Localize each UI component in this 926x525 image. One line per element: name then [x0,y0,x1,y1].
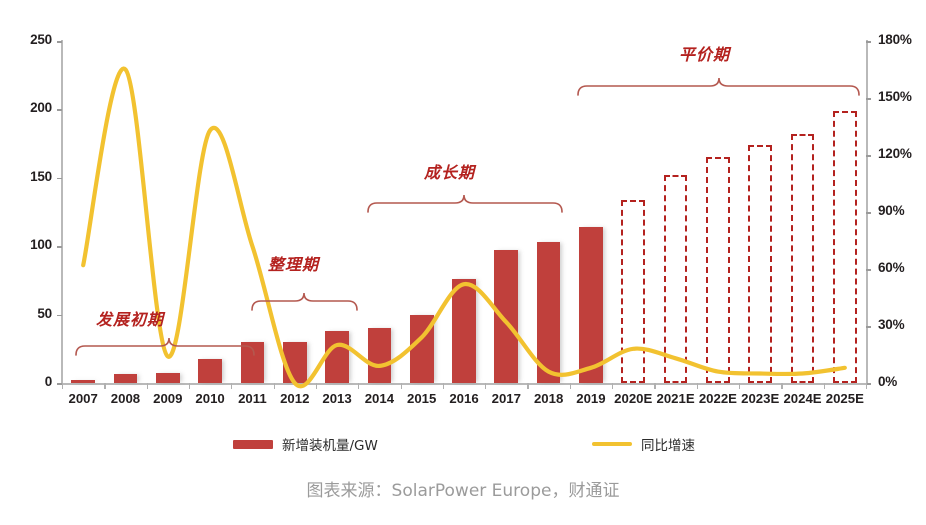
x-tick-label: 2015 [401,391,443,406]
x-tick [485,383,486,389]
bar-actual [198,359,222,383]
x-tick-label: 2022E [697,391,739,406]
x-tick [358,383,359,389]
x-tick-label: 2008 [104,391,146,406]
phase-label-3: 平价期 [679,41,730,65]
y-tick-label-right: 150% [878,89,926,104]
x-tick-label: 2024E [781,391,823,406]
brace-zhengliqi [252,293,357,310]
legend-label-line: 同比增速 [641,434,695,454]
bar-forecast [621,200,645,383]
x-tick [612,383,613,389]
legend-item-bar: 新增装机量/GW [233,434,378,454]
legend-item-line: 同比增速 [592,434,695,454]
x-tick [231,383,232,389]
bar-actual [114,374,138,383]
bar-actual [579,227,603,383]
legend-swatch-bar-icon [233,440,273,449]
y-tick-right [866,269,871,271]
x-tick-label: 2020E [612,391,654,406]
y-tick-label-right: 30% [878,317,926,332]
bar-forecast [791,134,815,383]
x-tick-label: 2019 [570,391,612,406]
x-tick-label: 2010 [189,391,231,406]
y-tick-right [866,326,871,328]
y-tick-label-left: 150 [0,169,52,184]
bar-actual [283,342,307,383]
chart-figure: 050100150200250 0%30%60%90%120%150%180% … [0,0,926,525]
x-axis-line [61,383,868,385]
x-tick-label: 2009 [147,391,189,406]
y-tick-right [866,155,871,157]
x-tick-label: 2011 [231,391,273,406]
y-tick-label-right: 0% [878,374,926,389]
x-tick [866,383,867,389]
legend-label-bar: 新增装机量/GW [282,434,378,454]
y-tick-right [866,212,871,214]
brace-chengchangqi [368,195,562,212]
x-tick [147,383,148,389]
x-tick-label: 2018 [527,391,569,406]
x-tick [781,383,782,389]
bar-actual [368,328,392,383]
y-tick-right [866,41,871,43]
phase-label-1: 整理期 [268,251,319,275]
y-tick-label-left: 50 [0,306,52,321]
y-tick-left [57,315,62,317]
x-tick-label: 2012 [274,391,316,406]
bar-forecast [664,175,688,383]
x-tick [824,383,825,389]
source-caption: 图表来源：SolarPower Europe，财通证 [0,476,926,501]
bar-actual [325,331,349,383]
x-tick [739,383,740,389]
bar-actual [71,380,95,383]
bar-actual [494,250,518,383]
bar-actual [452,279,476,383]
phase-label-2: 成长期 [424,159,475,183]
bar-actual [156,373,180,383]
bar-actual [410,315,434,383]
x-tick [104,383,105,389]
x-tick [274,383,275,389]
y-tick-label-left: 0 [0,374,52,389]
x-tick [443,383,444,389]
x-tick-label: 2014 [358,391,400,406]
x-tick [316,383,317,389]
bar-forecast [706,157,730,383]
brace-fazhanchuqi [76,338,254,355]
x-tick-label: 2023E [739,391,781,406]
y-tick-label-left: 250 [0,32,52,47]
y-tick-label-right: 60% [878,260,926,275]
bar-forecast [748,145,772,383]
legend-swatch-line-icon [592,442,632,446]
y-axis-left-line [61,40,63,384]
y-tick-label-left: 100 [0,237,52,252]
y-tick-left [57,246,62,248]
y-tick-left [57,109,62,111]
legend: 新增装机量/GW 同比增速 [0,432,926,458]
x-tick [189,383,190,389]
y-tick-label-left: 200 [0,100,52,115]
y-tick-left [57,178,62,180]
bar-actual [241,342,265,383]
x-tick [654,383,655,389]
x-tick [697,383,698,389]
x-tick [401,383,402,389]
x-tick-label: 2025E [824,391,866,406]
x-tick-label: 2021E [654,391,696,406]
x-tick [570,383,571,389]
y-tick-label-right: 120% [878,146,926,161]
y-tick-label-right: 90% [878,203,926,218]
y-tick-label-right: 180% [878,32,926,47]
y-tick-right [866,98,871,100]
brace-pingjiaqi [578,78,859,95]
x-tick-label: 2016 [443,391,485,406]
phase-label-0: 发展初期 [96,306,164,330]
x-tick [62,383,63,389]
bar-forecast [833,111,857,383]
y-tick-left [57,41,62,43]
x-tick-label: 2017 [485,391,527,406]
x-tick-label: 2013 [316,391,358,406]
x-tick-label: 2007 [62,391,104,406]
bar-actual [537,242,561,383]
x-tick [527,383,528,389]
